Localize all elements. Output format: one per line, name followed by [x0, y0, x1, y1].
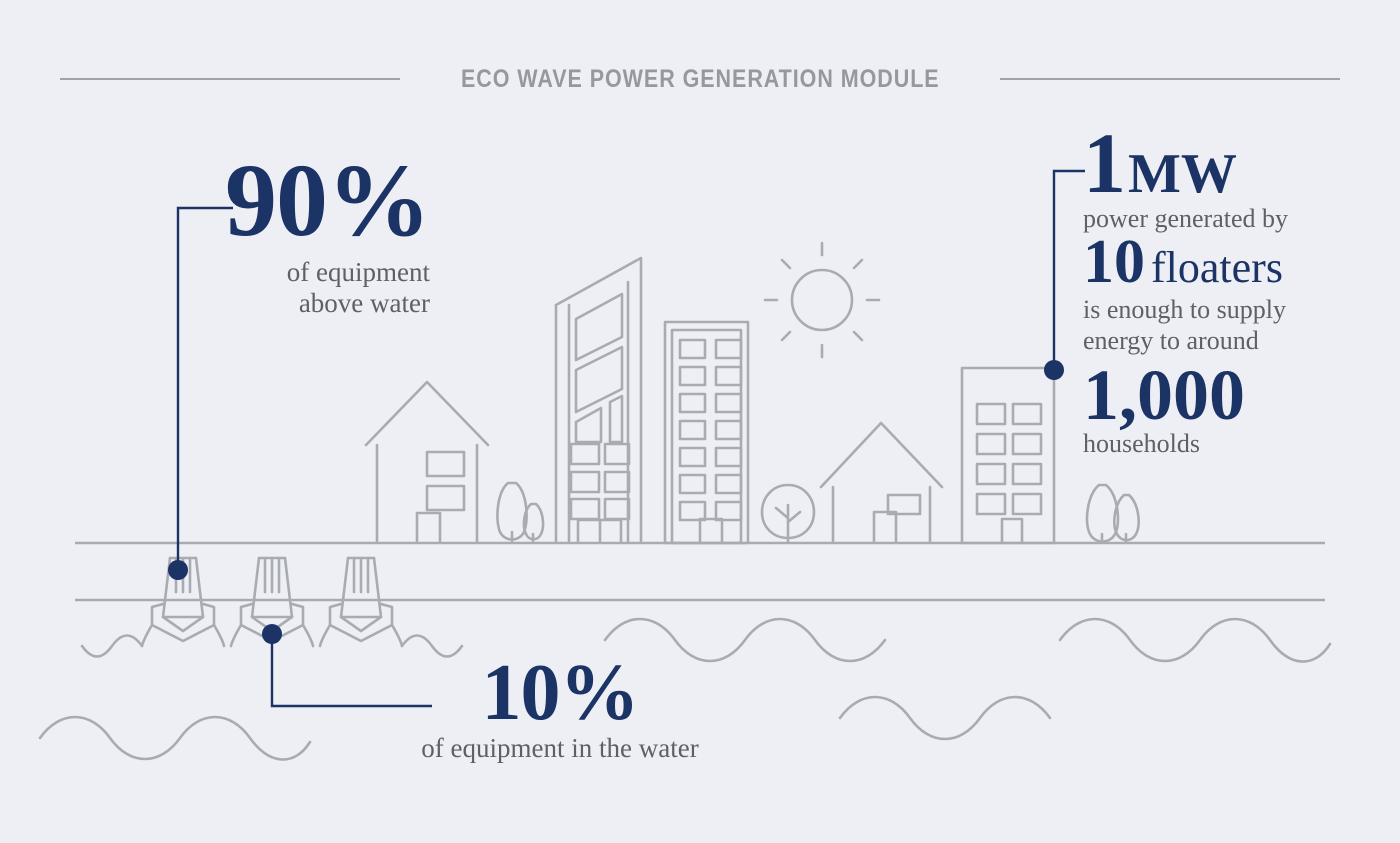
capacity-floaters-word: floaters: [1151, 246, 1283, 290]
wave-near-left: [82, 636, 142, 657]
cypress-trees-icon: [1087, 485, 1139, 543]
wave-near-right: [402, 636, 462, 657]
wave-bottom-right-icon: [840, 697, 1050, 739]
capacity-floaters-line: 10 floaters: [1083, 231, 1383, 293]
capacity-power-value: 1: [1083, 128, 1126, 199]
skyscraper-slanted-icon: [556, 258, 641, 543]
apartment-right-icon: [962, 368, 1054, 543]
capacity-text-b-line2: energy to around: [1083, 326, 1383, 355]
stat-90-caption: of equipment above water: [180, 257, 430, 319]
house-right-icon: [821, 423, 942, 543]
stat-10-value: 10%: [380, 655, 740, 731]
capacity-floaters-value: 10: [1083, 231, 1145, 293]
capacity-power-unit: MW: [1128, 152, 1237, 198]
apartment-tall-icon: [665, 322, 748, 543]
stat-90-value: 90%: [180, 152, 430, 251]
capacity-text-b-line1: is enough to supply: [1083, 295, 1383, 324]
wave-right-icon: [1060, 619, 1330, 662]
connector-capacity-dot: [1044, 360, 1064, 380]
tree-round-icon: [762, 485, 814, 543]
floater-3-icon: [320, 558, 402, 646]
house-left-icon: [366, 382, 488, 543]
stat-90-caption-line2: above water: [180, 288, 430, 319]
callout-above-water: 90% of equipment above water: [180, 152, 430, 318]
callout-capacity: 1 MW power generated by 10 floaters is e…: [1083, 128, 1383, 458]
connector-90-dot: [168, 560, 188, 580]
sun-icon: [765, 243, 879, 357]
connector-capacity-line: [1054, 171, 1085, 370]
connector-10-dot: [262, 624, 282, 644]
capacity-households-value: 1,000: [1083, 357, 1383, 433]
wave-bottom-left-icon: [40, 717, 310, 760]
stat-10-caption: of equipment in the water: [380, 733, 740, 764]
infographic-canvas: ECO WAVE POWER GENERATION MODULE: [0, 0, 1400, 843]
capacity-power-line: 1 MW: [1083, 128, 1383, 199]
tree-small-left-icon: [497, 483, 543, 543]
callout-in-water: 10% of equipment in the water: [380, 655, 740, 764]
stat-90-caption-line1: of equipment: [180, 257, 430, 288]
